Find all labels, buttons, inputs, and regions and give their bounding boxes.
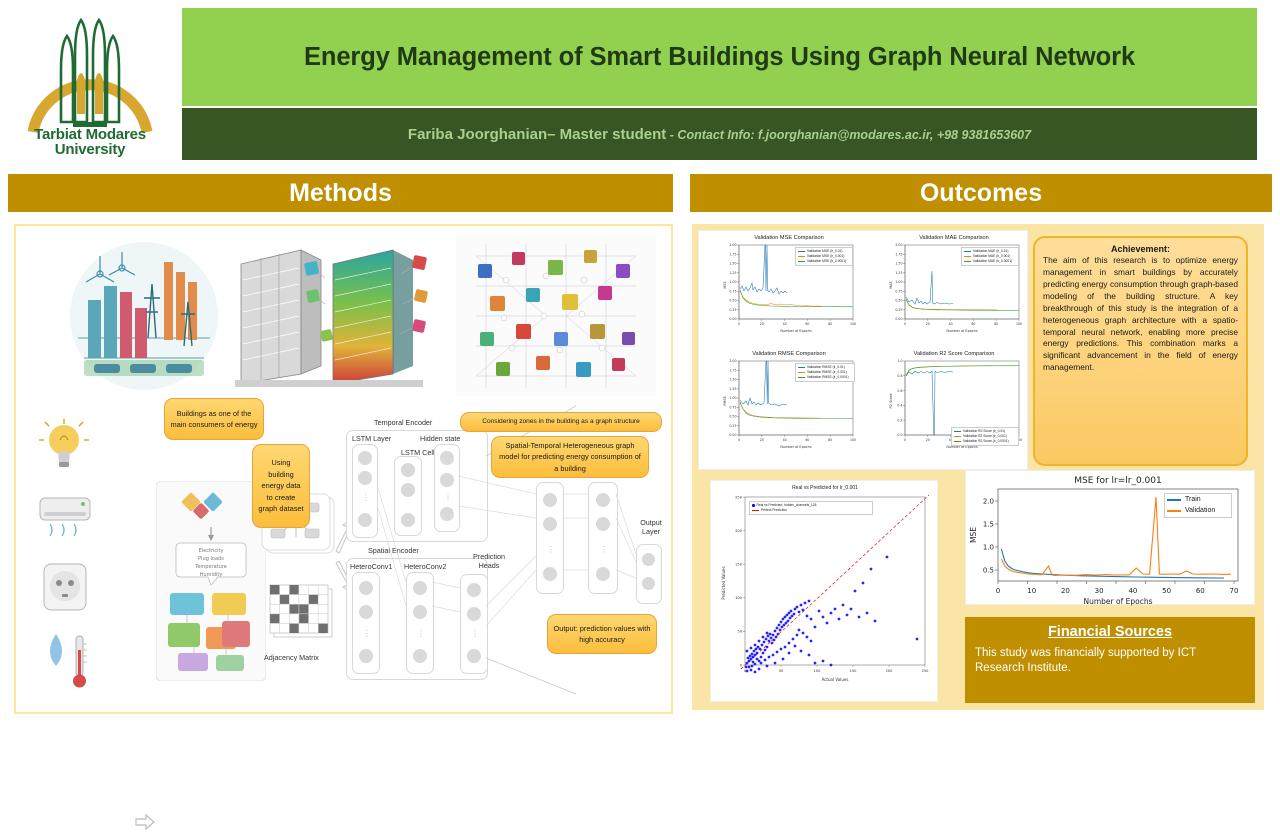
svg-text:Number of Epochs: Number of Epochs	[946, 329, 977, 333]
section-title-outcomes: Outcomes	[920, 179, 1042, 208]
achievement-box: Achievement: The aim of this research is…	[1033, 236, 1248, 466]
svg-text:0.25: 0.25	[895, 308, 902, 312]
chart-title-validation-mse: Validation MSE Comparison	[719, 235, 859, 241]
chart-title-validation-mae: Validation MAE Comparison	[884, 235, 1024, 241]
svg-text:2.0: 2.0	[983, 498, 994, 506]
svg-text:0.00: 0.00	[729, 433, 736, 437]
logo-line-1: Tarbiat Modares	[15, 127, 165, 143]
svg-text:100: 100	[814, 669, 822, 673]
svg-text:50: 50	[737, 630, 742, 634]
svg-text:250: 250	[735, 495, 743, 499]
svg-text:40: 40	[1128, 587, 1137, 595]
svg-text:80: 80	[828, 438, 832, 442]
achievement-body: The aim of this research is to optimize …	[1043, 255, 1238, 374]
legend-item: Validation MAE (lr_0.0001)	[964, 259, 1016, 264]
label-lstm-layer: LSTM Layer	[352, 434, 391, 443]
svg-text:40: 40	[783, 322, 787, 326]
poster-title-bar: Energy Management of Smart Buildings Usi…	[182, 8, 1257, 106]
svg-text:0.50: 0.50	[729, 415, 736, 419]
svg-text:100: 100	[850, 322, 856, 326]
svg-text:0: 0	[738, 438, 740, 442]
chart-legend-validation-mse: Validation MSE (lr_0.01) Validation MSE …	[795, 247, 853, 266]
svg-text:100: 100	[850, 438, 856, 442]
section-header-outcomes: Outcomes	[690, 174, 1272, 212]
svg-text:1.50: 1.50	[895, 262, 902, 266]
svg-text:Actual Values: Actual Values	[822, 677, 849, 682]
svg-text:0.25: 0.25	[729, 424, 736, 428]
svg-text:1.00: 1.00	[895, 280, 902, 284]
financial-sources-box: Financial Sources This study was financi…	[965, 617, 1255, 703]
svg-text:MSE: MSE	[969, 527, 978, 543]
svg-text:Humidity: Humidity	[200, 572, 223, 578]
section-header-methods: Methods	[8, 174, 673, 212]
smart-building-illustration	[221, 234, 436, 399]
chart-plot-mse-lr: MSE for lr=lr_0.001 01020 304050 6070 0.…	[966, 471, 1256, 606]
svg-text:1.0: 1.0	[983, 544, 994, 552]
svg-text:60: 60	[1196, 587, 1205, 595]
callout-spatial-temporal-model: Spatial-Temporal Heterogeneous graph mod…	[491, 436, 649, 478]
tarbiat-modares-university-logo: Tarbiat Modares University	[15, 10, 165, 160]
chart-legend-validation-r2: Validation R2 Score (lr_0.01) Validation…	[951, 427, 1019, 446]
label-adjacency-matrix: Adjacency Matrix	[264, 653, 319, 662]
label-hidden-state: Hidden state	[420, 434, 460, 443]
svg-text:30: 30	[1095, 587, 1104, 595]
svg-text:250: 250	[922, 669, 930, 673]
svg-text:200: 200	[735, 529, 743, 533]
svg-text:0.25: 0.25	[729, 308, 736, 312]
svg-text:50: 50	[779, 669, 784, 673]
svg-text:R2 Score: R2 Score	[889, 393, 893, 408]
svg-text:1.25: 1.25	[895, 271, 902, 275]
fusion-layer-column: ⋮	[536, 482, 564, 594]
svg-text:60: 60	[805, 438, 809, 442]
legend-item: Validation RMSE (lr_0.0001)	[798, 375, 852, 380]
lstm-cell-column	[394, 456, 422, 536]
graph-network-cubes-illustration	[456, 236, 656, 396]
svg-text:60: 60	[805, 322, 809, 326]
chart-legend-mse-lr: Train Validation	[1164, 493, 1232, 518]
legend-item: Train	[1167, 495, 1229, 506]
financial-sources-title: Financial Sources	[975, 624, 1245, 640]
svg-text:Temperature: Temperature	[194, 564, 227, 570]
svg-text:20: 20	[760, 322, 764, 326]
label-spatial-encoder: Spatial Encoder	[368, 546, 419, 555]
logo-text: Tarbiat Modares University	[15, 127, 165, 159]
chart-title-validation-r2: Validation R2 Score Comparison	[884, 351, 1024, 357]
svg-text:0.00: 0.00	[729, 317, 736, 321]
svg-text:0: 0	[904, 438, 906, 442]
svg-text:1.75: 1.75	[729, 252, 736, 256]
svg-text:0.6: 0.6	[897, 389, 902, 393]
heteroconv2-column: ⋮	[406, 572, 434, 674]
chart-legend-real-vs-predicted: Real vs Predicted, hidden_channels_128 P…	[749, 501, 873, 515]
svg-text:0.0: 0.0	[897, 433, 902, 437]
svg-text:100: 100	[735, 596, 743, 600]
svg-text:Number of Epochs: Number of Epochs	[780, 445, 811, 449]
chart-plot-real-vs-predicted: 050100 150200250 050100 150200250 Predic…	[711, 491, 939, 699]
svg-text:1.75: 1.75	[729, 368, 736, 372]
heteroconv1-column: ⋮	[352, 572, 380, 674]
svg-text:1.00: 1.00	[729, 396, 736, 400]
legend-item: Validation R2 Score (lr_0.0001)	[954, 439, 1016, 444]
author-line: Fariba Joorghanian– Master student - Con…	[408, 126, 1031, 143]
svg-text:0.75: 0.75	[729, 289, 736, 293]
financial-sources-body: This study was financially supported by …	[975, 646, 1245, 676]
logo-line-2: University	[15, 142, 165, 158]
svg-text:Electricity: Electricity	[199, 548, 224, 554]
svg-text:20: 20	[1061, 587, 1070, 595]
svg-text:20: 20	[760, 438, 764, 442]
power-socket-illustration	[34, 556, 96, 618]
svg-text:1.25: 1.25	[729, 271, 736, 275]
svg-text:2.00: 2.00	[729, 243, 736, 247]
svg-text:2.00: 2.00	[729, 359, 736, 363]
university-logo-area: Tarbiat Modares University	[0, 0, 180, 170]
label-temporal-encoder: Temporal Encoder	[374, 418, 432, 427]
svg-text:0.8: 0.8	[897, 374, 902, 378]
output-layer-column	[636, 544, 662, 604]
svg-text:0.5: 0.5	[983, 567, 994, 575]
svg-text:Number of Epochs: Number of Epochs	[780, 329, 811, 333]
callout-buildings-consumers: Buildings as one of the main consumers o…	[164, 398, 264, 440]
svg-text:0.75: 0.75	[729, 405, 736, 409]
adjacency-matrix-icon	[264, 581, 342, 649]
lightbulb-icon-illustration	[34, 416, 94, 478]
svg-text:1.0: 1.0	[897, 359, 902, 363]
chart-title-mse-lr: MSE for lr=lr_0.001	[1074, 476, 1161, 486]
chart-title-validation-rmse: Validation RMSE Comparison	[719, 351, 859, 357]
svg-text:RMSE: RMSE	[723, 396, 727, 406]
svg-text:40: 40	[949, 322, 953, 326]
svg-text:MAE: MAE	[889, 281, 893, 288]
mse-lr-figure: MSE for lr=lr_0.001 01020 304050 6070 0.…	[965, 470, 1255, 605]
outcomes-panel: Validation MSE Comparison 0.000.250.50 0…	[692, 224, 1264, 710]
chart-legend-validation-mae: Validation MAE (lr_0.01) Validation MAE …	[961, 247, 1019, 266]
svg-text:60: 60	[971, 322, 975, 326]
section-title-methods: Methods	[289, 179, 392, 208]
svg-text:0.50: 0.50	[729, 299, 736, 303]
hidden-state-column: ⋮	[434, 444, 460, 532]
svg-text:100: 100	[1016, 322, 1022, 326]
svg-text:MSE: MSE	[723, 281, 727, 288]
real-vs-predicted-figure: Real vs Predicted for lr_0.001 050100 15…	[710, 480, 938, 702]
svg-text:0.75: 0.75	[895, 289, 902, 293]
svg-text:0.00: 0.00	[895, 317, 902, 321]
legend-item: Validation MSE (lr_0.0001)	[798, 259, 850, 264]
svg-text:150: 150	[735, 563, 743, 567]
chart-legend-validation-rmse: Validation RMSE (lr_0.01) Validation RMS…	[795, 363, 855, 382]
svg-text:1.00: 1.00	[729, 280, 736, 284]
svg-text:Predicted Values: Predicted Values	[721, 566, 726, 599]
svg-text:1.75: 1.75	[895, 252, 902, 256]
svg-text:20: 20	[926, 438, 930, 442]
prediction-heads-left-column: ⋮	[460, 574, 488, 674]
svg-text:70: 70	[1230, 587, 1239, 595]
svg-text:0.50: 0.50	[895, 299, 902, 303]
svg-text:Number of Epochs: Number of Epochs	[1084, 597, 1153, 606]
sensor-data-flow-illustration: ElectricityPlug loads TemperatureHumidit…	[156, 481, 266, 681]
page-title: Energy Management of Smart Buildings Usi…	[304, 43, 1135, 72]
svg-text:2.00: 2.00	[895, 243, 902, 247]
energy-infrastructure-illustration	[64, 238, 224, 393]
svg-text:50: 50	[1162, 587, 1171, 595]
svg-text:80: 80	[828, 322, 832, 326]
callout-output-prediction: Output: prediction values with high accu…	[547, 614, 657, 654]
svg-text:150: 150	[850, 669, 858, 673]
air-conditioner-illustration	[34, 488, 96, 546]
arrow-right-icon	[134, 811, 156, 833]
svg-text:1.25: 1.25	[729, 387, 736, 391]
methods-panel: ElectricityPlug loads TemperatureHumidit…	[14, 224, 673, 714]
poster-root: Tarbiat Modares University Energy Manage…	[0, 0, 1280, 720]
svg-text:20: 20	[926, 322, 930, 326]
callout-building-energy-data: Using building energy data to create gra…	[252, 444, 310, 528]
label-output-layer: Output Layer	[634, 518, 668, 536]
svg-text:1.5: 1.5	[983, 521, 994, 529]
label-prediction-heads-left: Prediction Heads	[468, 552, 510, 570]
svg-text:0.4: 0.4	[897, 404, 902, 408]
label-heteroconv2: HeteroConv2	[404, 562, 446, 571]
svg-text:10: 10	[1027, 587, 1036, 595]
prediction-heads-right-column: ⋮	[588, 482, 618, 594]
svg-text:Plug loads: Plug loads	[198, 556, 224, 562]
svg-text:0: 0	[996, 587, 1000, 595]
svg-text:40: 40	[783, 438, 787, 442]
svg-text:0: 0	[738, 322, 740, 326]
legend-item: Perfect Prediction	[752, 508, 870, 513]
svg-text:0: 0	[740, 663, 743, 667]
lstm-layer-column: ⋮	[352, 444, 378, 538]
svg-text:0: 0	[904, 322, 906, 326]
author-bar: Fariba Joorghanian– Master student - Con…	[182, 108, 1257, 160]
svg-text:80: 80	[994, 322, 998, 326]
contact-info: - Contact Info: f.joorghanian@modares.ac…	[666, 128, 1031, 142]
author-name: Fariba Joorghanian– Master student	[408, 126, 666, 143]
svg-text:1.50: 1.50	[729, 262, 736, 266]
achievement-title: Achievement:	[1043, 244, 1238, 254]
svg-text:0.2: 0.2	[897, 418, 902, 422]
svg-text:1.50: 1.50	[729, 378, 736, 382]
label-heteroconv1: HeteroConv1	[350, 562, 392, 571]
svg-text:200: 200	[886, 669, 894, 673]
callout-zones-graph-structure: Considering zones in the building as a g…	[460, 412, 662, 432]
legend-item: Validation	[1167, 506, 1229, 517]
validation-metrics-figure: Validation MSE Comparison 0.000.250.50 0…	[698, 230, 1028, 470]
water-thermometer-illustration	[34, 626, 96, 698]
